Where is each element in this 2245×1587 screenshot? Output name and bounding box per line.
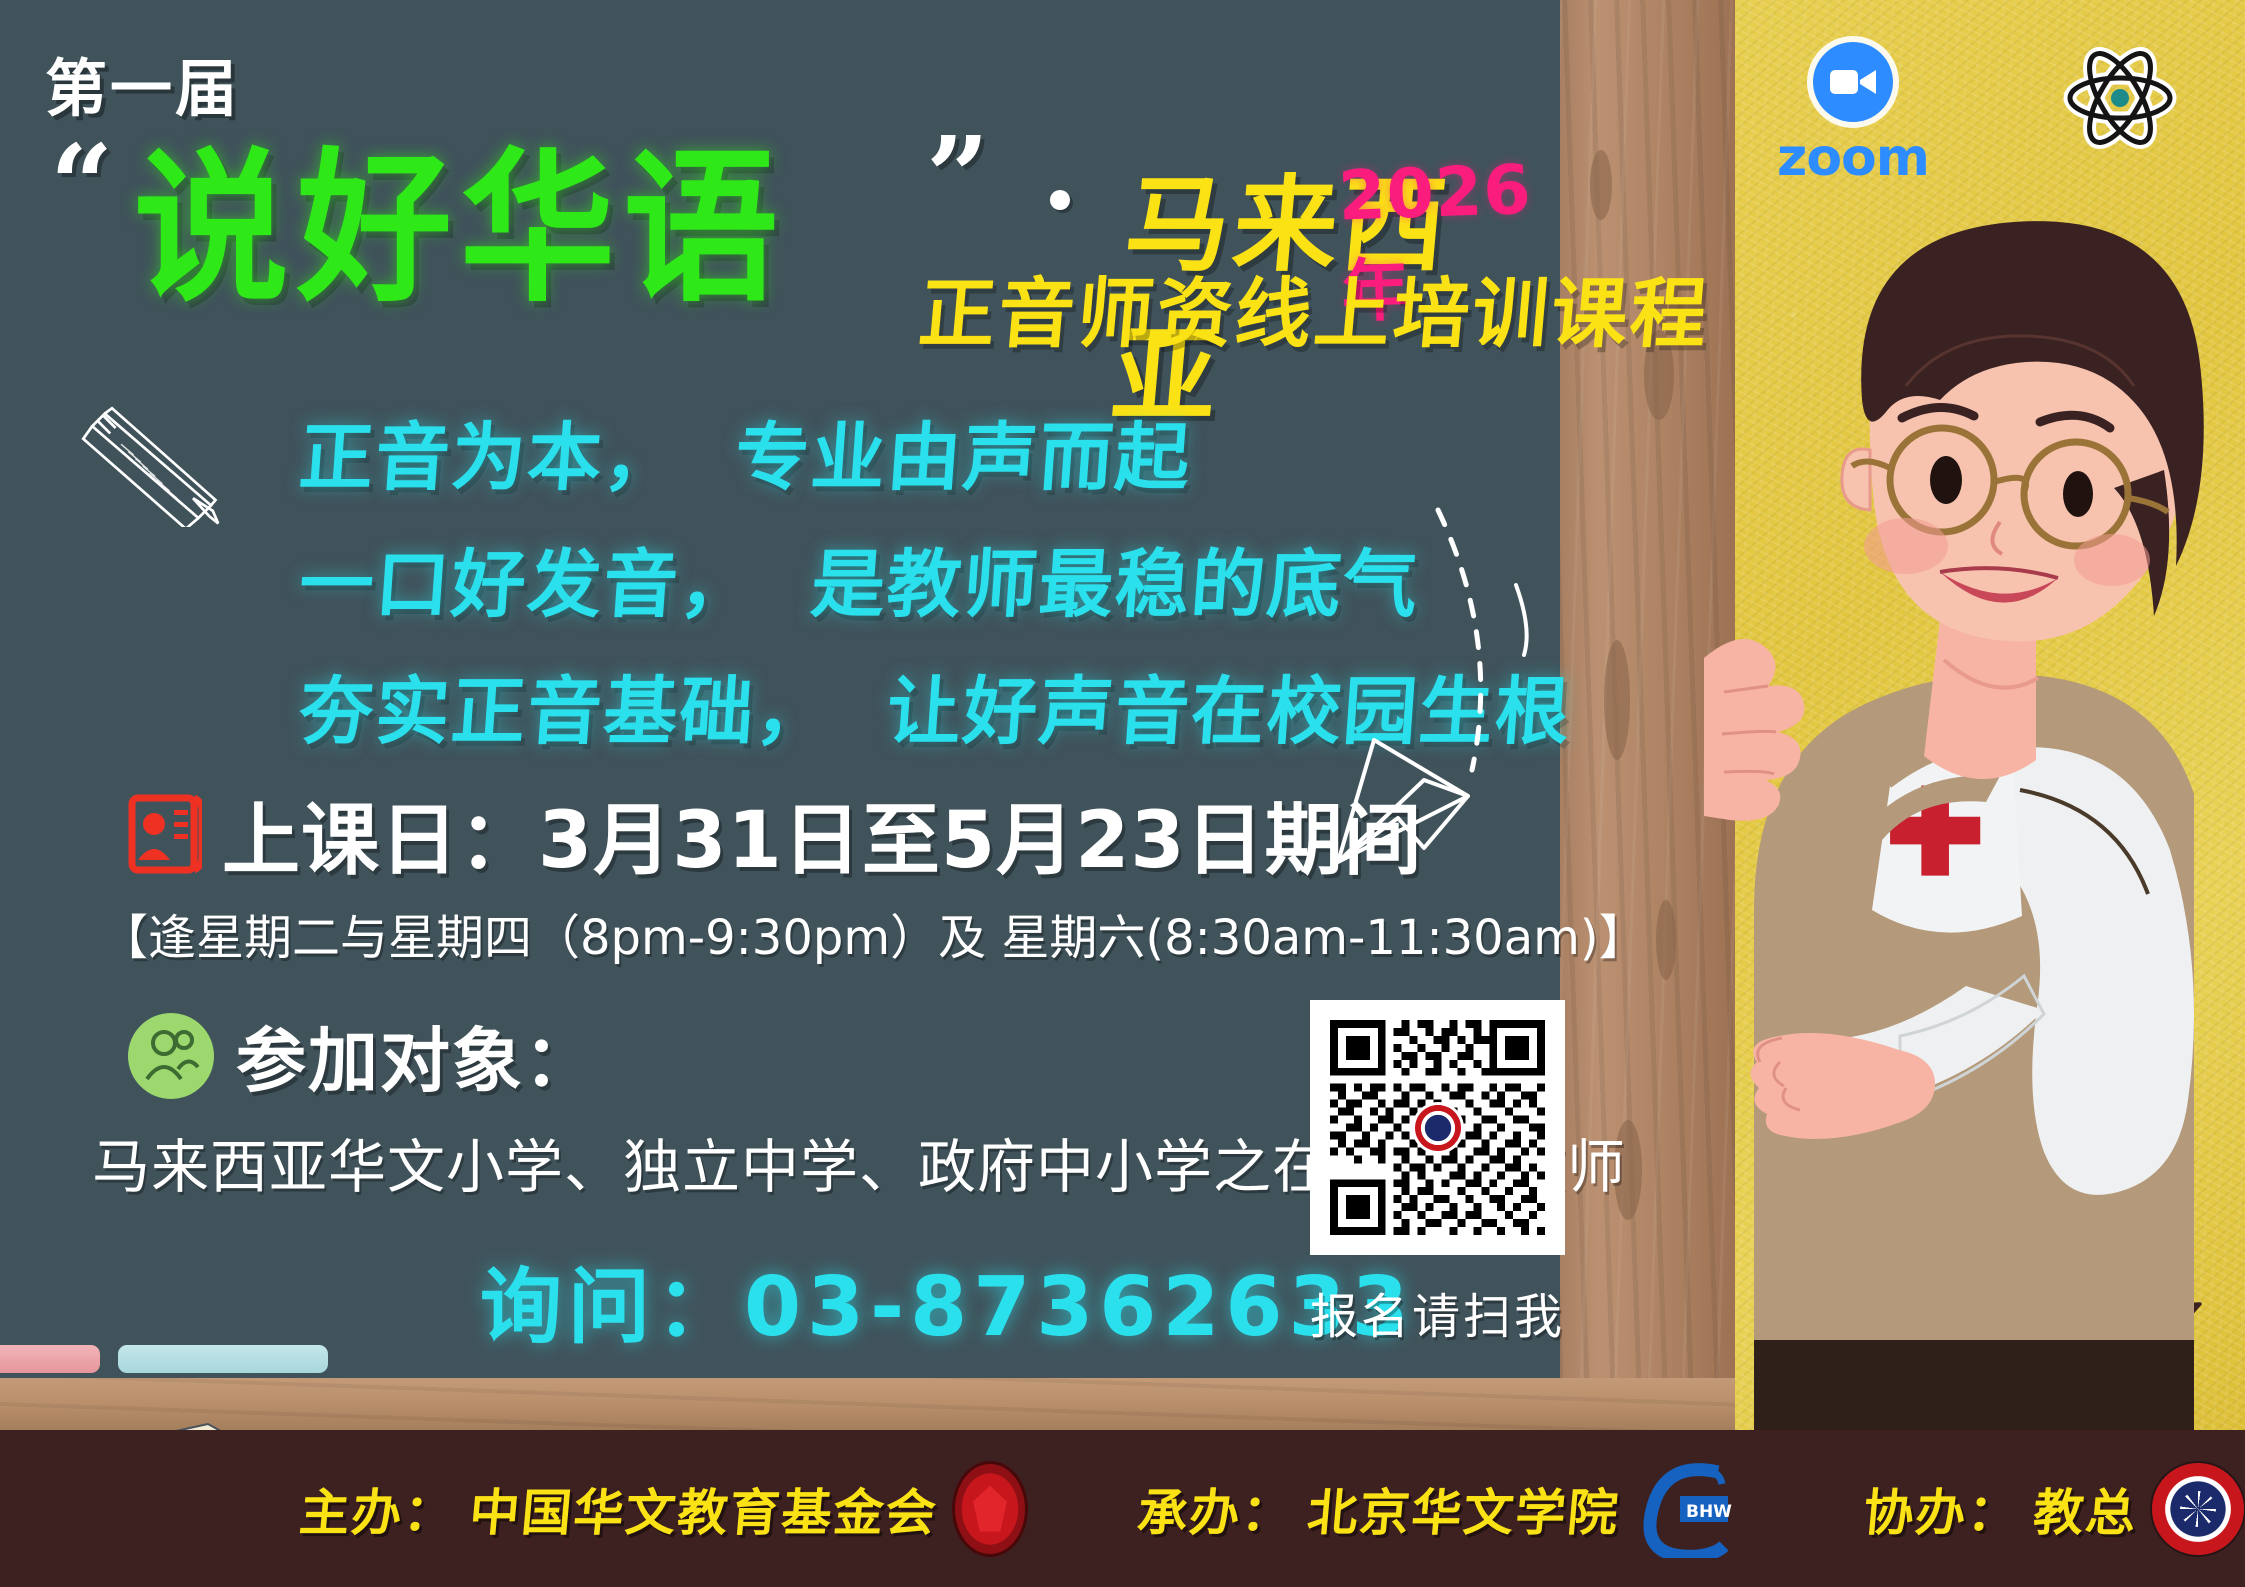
qr-caption: 报名请扫我	[1310, 1277, 1565, 1347]
people-icon	[128, 1013, 214, 1099]
quote-close-mark: ”	[926, 122, 989, 232]
contact-phone[interactable]: 询问：03-87362633	[480, 1240, 1415, 1359]
host-name: 北京华文学院	[1305, 1473, 1623, 1545]
organizer-name: 中国华文教育基金会	[467, 1473, 941, 1545]
footer-bar: 主办： 中国华文教育基金会 承办： 北京华文学院 BHW	[0, 1430, 2245, 1587]
slogan-block: 正音为本， 专业由声而起 一口好发音， 是教师最稳的底气 夯实正音基础， 让好声…	[300, 398, 1572, 779]
qr-block[interactable]: 报名请扫我	[1310, 1000, 1565, 1347]
svg-text:BHW: BHW	[1686, 1502, 1732, 1522]
atom-icon	[2060, 38, 2180, 158]
coorganizer-group: 协办： 教总	[1864, 1463, 2244, 1555]
slogan-line: 夯实正音基础， 让好声音在校园生根	[296, 652, 1575, 759]
slogan-line: 正音为本， 专业由声而起	[296, 398, 1575, 505]
qr-code[interactable]	[1310, 1000, 1565, 1255]
organizer-group: 主办： 中国华文教育基金会	[300, 1461, 1028, 1557]
coorganizer-name: 教总	[2031, 1473, 2141, 1545]
jiaozong-seal-icon	[1415, 1105, 1461, 1151]
jiaozong-seal-icon	[2152, 1463, 2244, 1555]
video-camera-icon	[1813, 42, 1893, 122]
class-date-row: 上课日：3月31日至5月23日期间	[128, 778, 1423, 890]
class-date-label: 上课日：3月31日至5月23日期间	[222, 778, 1423, 890]
title-separator-dot	[1050, 190, 1070, 210]
audience-title: 参加对象：	[236, 1005, 596, 1106]
audience-row: 参加对象：	[128, 1005, 596, 1106]
teacher-character	[1694, 150, 2245, 1430]
title-main: 说好华语	[134, 95, 787, 333]
host-label: 承办：	[1135, 1473, 1297, 1545]
poster-root: 第一届 “ 说好华语 ” 马来西亚 2026年 正音师资线上培训课程 正音为本，…	[0, 0, 2245, 1587]
organizer-label: 主办：	[297, 1473, 459, 1545]
chalk-stick-blue	[118, 1345, 328, 1373]
bhw-blue-logo-icon: BHW	[1634, 1460, 1744, 1558]
host-group: 承办： 北京华文学院 BHW	[1138, 1460, 1744, 1558]
course-subtitle: 正音师资线上培训课程	[915, 252, 1715, 362]
slogan-line: 一口好发音， 是教师最稳的底气	[296, 525, 1575, 632]
quote-open-mark: “	[50, 130, 113, 240]
class-date-detail: 【逢星期二与星期四（8pm-9:30pm）及 星期六(8:30am-11:30a…	[100, 898, 1647, 968]
cetf-red-seal-icon	[952, 1461, 1028, 1557]
calendar-person-icon	[128, 794, 202, 874]
chalk-stick-pink	[0, 1345, 100, 1373]
coorganizer-label: 协办：	[1861, 1473, 2023, 1545]
